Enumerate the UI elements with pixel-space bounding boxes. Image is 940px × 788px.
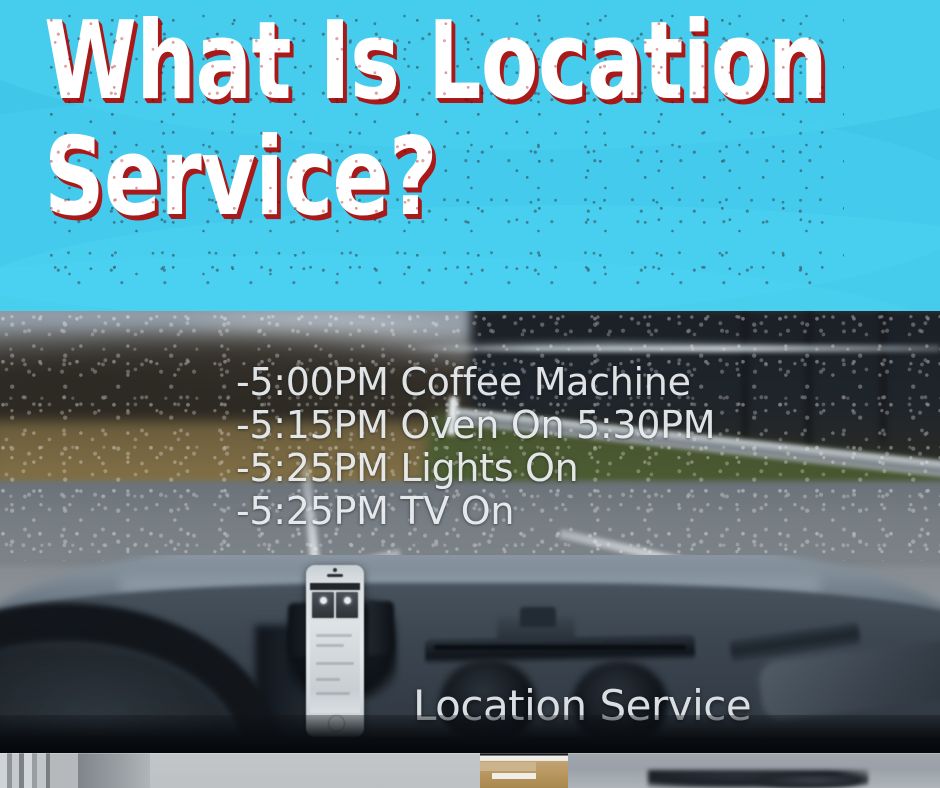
next-image-sliver (0, 753, 940, 788)
schedule-line-1: -5:00PM Coffee Machine (236, 361, 715, 404)
defroster-vent-slit (434, 645, 686, 650)
schedule-line-2: -5:15PM Oven On 5:30PM (236, 404, 715, 447)
content-line-4 (316, 678, 340, 681)
content-line-2 (316, 644, 344, 647)
app-tile-left[interactable] (312, 592, 334, 618)
smartphone[interactable] (306, 565, 364, 737)
schedule-line-3: -5:25PM Lights On (236, 447, 715, 490)
sliver-top-edge (0, 753, 940, 754)
sliver-gray-block (78, 753, 150, 788)
title-line-2: Service? (44, 126, 668, 230)
content-line-5 (316, 692, 350, 695)
windshield-light-streak-secondary (430, 341, 790, 345)
front-camera-icon (333, 568, 337, 572)
title-line-1: What Is Location (44, 10, 668, 114)
tree-trunk-3 (880, 311, 886, 441)
sliver-light-panel (150, 753, 480, 788)
header-banner: What Is Location Service? (0, 0, 940, 311)
app-content-area (310, 620, 360, 713)
page-title: What Is Location Service? (44, 10, 844, 229)
schedule-line-4: -5:25PM TV On (236, 490, 715, 533)
sliver-dark-object-secondary (758, 775, 868, 788)
windshield-light-streak (400, 345, 940, 352)
sliver-white-band (492, 773, 536, 779)
earpiece-speaker (327, 574, 343, 577)
content-line-1 (316, 634, 352, 637)
sliver-wood-strip (480, 762, 536, 771)
photo-bottom-shadow (0, 715, 940, 753)
tree-trunk-2 (806, 311, 812, 451)
phone-screen[interactable] (310, 583, 360, 713)
center-console-nub (520, 607, 556, 627)
hero-photo: -5:00PM Coffee Machine -5:15PM Oven On 5… (0, 311, 940, 753)
phone-mount-arm-right (368, 601, 394, 655)
schedule-overlay: -5:00PM Coffee Machine -5:15PM Oven On 5… (236, 361, 715, 533)
app-tile-row[interactable] (312, 592, 358, 618)
content-line-3 (316, 662, 354, 665)
phone-status-bar (310, 583, 360, 590)
app-tile-right[interactable] (336, 592, 358, 618)
page-root: What Is Location Service? -5:00PM Coffee… (0, 0, 940, 788)
sliver-vertical-stripes (0, 753, 78, 788)
defroster-vent-slot (425, 635, 695, 666)
